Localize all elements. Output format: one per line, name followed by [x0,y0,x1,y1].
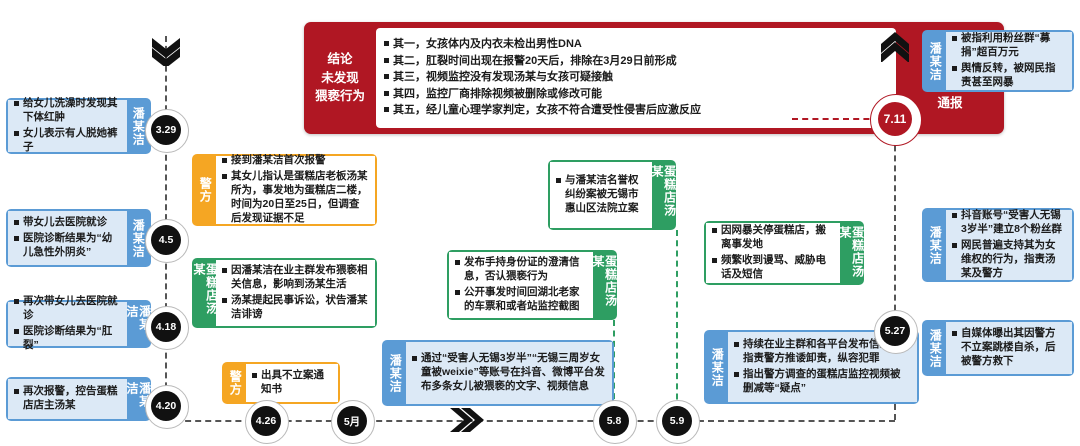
card-point: 出具不立案通知书 [252,369,331,397]
conclusion-label-line-2: 未发现 [321,69,359,88]
card-police-first-report: 警方 接到潘某洁首次报警 其女儿指认是蛋糕店老板汤某所为，事发地为蛋糕店二楼，时… [192,154,377,226]
date-marker-5-27[interactable]: 5.27 [880,316,910,346]
card-body: 带女儿去医院就诊 医院诊断结果为“幼儿急性外阴炎” [8,211,127,265]
police-report-line-2: 通报 [937,95,962,112]
card-party-tab: 警方 [224,364,246,402]
card-pan-3-29: 给女儿洗澡时发现其下体红肿 女儿表示有人脱她裤子 潘某洁 [6,98,151,154]
conclusion-point: 其一，女孩体内及内衣未检出男性DNA [384,37,888,53]
card-point: 医院诊断结果为“幼儿急性外阴炎” [14,232,120,260]
card-party-tab: 蛋糕店汤某 [194,260,216,326]
card-body: 接到潘某洁首次报警 其女儿指认是蛋糕店老板汤某所为，事发地为蛋糕店二楼，时间为2… [216,156,375,224]
card-point: 再次报警，控告蛋糕店店主汤某 [14,385,120,413]
card-party-tab: 潘某洁 [924,322,946,374]
card-body: 与潘某洁名誉权纠纷案被无锡市惠山区法院立案 [550,162,652,228]
card-body: 自媒体曝出其因警方不立案跳楼自杀，后被警方救下 [946,322,1072,374]
conclusion-label: 结论 未发现 猥亵行为 [304,22,376,134]
card-body: 因网暴关停蛋糕店，搬离事发地 频繁收到谩骂、威胁电话及短信 [706,223,840,283]
card-point: 与潘某洁名誉权纠纷案被无锡市惠山区法院立案 [556,174,645,216]
card-party-tab: 蛋糕店汤某 [593,252,615,318]
card-police-no-case-notice: 警方 出具不立案通知书 [222,362,340,404]
card-point: 汤某提起民事诉讼，状告潘某洁诽谤 [222,294,368,322]
card-body: 因潘某洁在业主群发布猥亵相关信息，影响到汤某生活 汤某提起民事诉讼，状告潘某洁诽… [216,260,375,326]
date-marker-4-18[interactable]: 4.18 [151,312,181,342]
chevron-right-icon [448,405,484,435]
card-party-tab: 潘某洁 [384,342,406,404]
card-body: 再次报警，控告蛋糕店店主汤某 [8,379,127,419]
date-marker-5-8[interactable]: 5.8 [599,406,629,436]
card-party-tab: 蛋糕店汤某 [652,162,674,228]
card-point: 公开事发时间回湖北老家的车票和或者站监控截图 [455,286,586,314]
chevron-up-icon [879,30,911,62]
card-body: 发布手持身份证的澄清信息，否认猥亵行为 公开事发时间回湖北老家的车票和或者站监控… [449,252,593,318]
date-marker-5month[interactable]: 5月 [337,406,367,436]
card-point: 带女儿去医院就诊 [14,216,120,230]
conclusion-label-line-1: 结论 [327,50,352,69]
card-point: 因网暴关停蛋糕店，搬离事发地 [712,224,833,252]
card-party-tab: 潘某洁 [924,210,946,280]
card-pan-douyin-fans: 潘某洁 抖音账号“受害人无锡3岁半”建立8个粉丝群 网民普遍支持其为女维权的行为… [922,208,1074,282]
card-party-tab: 蛋糕店汤某 [840,223,862,283]
card-point: 指出警方调查的蛋糕店监控视频被删减等“疑点” [734,368,910,396]
card-point: 舆情反转，被网民指责甚至网暴 [952,62,1065,90]
card-pan-4-20: 再次报警，控告蛋糕店店主汤某 潘某洁 [6,377,151,421]
card-pan-suicide-report: 潘某洁 自媒体曝出其因警方不立案跳楼自杀，后被警方救下 [922,320,1074,376]
infographic-canvas: 3.29 4.5 4.18 4.20 4.26 5月 5.8 5.9 5.27 … [0,0,1080,446]
date-marker-4-5[interactable]: 4.5 [151,225,181,255]
card-point: 发布手持身份证的澄清信息，否认猥亵行为 [455,256,586,284]
card-body: 通过“受害人无锡3岁半”“无锡三周岁女童被weixie”等账号在抖音、微博平台发… [406,342,612,404]
card-point: 抖音账号“受害人无锡3岁半”建立8个粉丝群 [952,209,1065,237]
card-point: 给女儿洗澡时发现其下体红肿 [14,97,120,125]
card-tang-defamation-suit: 蛋糕店汤某 因潘某洁在业主群发布猥亵相关信息，影响到汤某生活 汤某提起民事诉讼，… [192,258,377,328]
conclusion-point: 其二，肛裂时间出现在报警20天后，排除在3月29日前形成 [384,54,888,70]
date-marker-4-26[interactable]: 4.26 [251,406,281,436]
card-point: 因潘某洁在业主群发布猥亵相关信息，影响到汤某生活 [222,264,368,292]
conclusion-points-list: 其一，女孩体内及内衣未检出男性DNA 其二，肛裂时间出现在报警20天后，排除在3… [376,28,896,128]
card-party-tab: 潘某洁 [706,332,728,402]
card-body: 再次带女儿去医院就诊 医院诊断结果为“肛裂” [8,302,127,346]
date-marker-3-29[interactable]: 3.29 [151,115,181,145]
chevron-down-icon [150,36,182,66]
card-pan-donation: 潘某洁 被指利用粉丝群“募捐”超百万元 舆情反转，被网民指责甚至网暴 [922,30,1074,92]
card-point: 再次带女儿去医院就诊 [14,295,120,323]
card-body: 出具不立案通知书 [246,364,338,402]
card-point: 女儿表示有人脱她裤子 [14,127,120,155]
card-point: 频繁收到谩骂、威胁电话及短信 [712,254,833,282]
date-marker-4-20[interactable]: 4.20 [151,391,181,421]
card-pan-social-media-posts: 潘某洁 通过“受害人无锡3岁半”“无锡三周岁女童被weixie”等账号在抖音、微… [382,340,614,406]
card-point: 自媒体曝出其因警方不立案跳楼自杀，后被警方救下 [952,327,1065,369]
card-point: 被指利用粉丝群“募捐”超百万元 [952,32,1065,60]
card-pan-4-18: 再次带女儿去医院就诊 医院诊断结果为“肛裂” 潘某洁 [6,300,151,348]
card-tang-clarification: 发布手持身份证的澄清信息，否认猥亵行为 公开事发时间回湖北老家的车票和或者站监控… [447,250,617,320]
card-tang-shop-closed: 因网暴关停蛋糕店，搬离事发地 频繁收到谩骂、威胁电话及短信 蛋糕店汤某 [704,221,864,285]
card-point: 医院诊断结果为“肛裂” [14,325,120,353]
card-party-tab: 警方 [194,156,216,224]
card-point: 通过“受害人无锡3岁半”“无锡三周岁女童被weixie”等账号在抖音、微博平台发… [412,352,605,394]
card-body: 给女儿洗澡时发现其下体红肿 女儿表示有人脱她裤子 [8,100,127,152]
conclusion-point: 其五，经儿童心理学家判定，女孩不符合遭受性侵害后应激反应 [384,103,888,119]
conclusion-point: 其四，监控厂商排除视频被删除或修改可能 [384,87,888,103]
conclusion-label-line-3: 猥亵行为 [315,87,365,106]
conclusion-point: 其三，视频监控没有发现汤某与女孩可疑接触 [384,70,888,86]
card-party-tab: 潘某洁 [924,32,946,90]
date-marker-7-11[interactable]: 7.11 [878,102,912,136]
date-marker-5-9[interactable]: 5.9 [662,406,692,436]
card-point: 其女儿指认是蛋糕店老板汤某所为，事发地为蛋糕店二楼，时间为20日至25日，但调查… [222,170,368,225]
card-point: 网民普遍支持其为女维权的行为，指责汤某及警方 [952,239,1065,281]
card-tang-court-filing: 与潘某洁名誉权纠纷案被无锡市惠山区法院立案 蛋糕店汤某 [548,160,676,230]
green-connector-court [676,230,678,420]
card-pan-4-5: 带女儿去医院就诊 医院诊断结果为“幼儿急性外阴炎” 潘某洁 [6,209,151,267]
card-body: 被指利用粉丝群“募捐”超百万元 舆情反转，被网民指责甚至网暴 [946,32,1072,90]
card-point: 接到潘某洁首次报警 [222,154,368,168]
card-body: 抖音账号“受害人无锡3岁半”建立8个粉丝群 网民普遍支持其为女维权的行为，指责汤… [946,210,1072,280]
